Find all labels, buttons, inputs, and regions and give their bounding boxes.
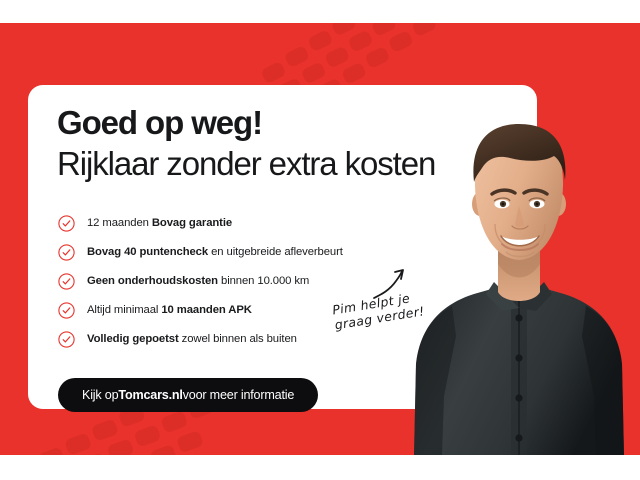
page-subtitle: Rijklaar zonder extra kosten [57, 145, 435, 183]
list-item: Bovag 40 puntencheck en uitgebreide afle… [58, 238, 388, 267]
feature-post: zowel binnen als buiten [179, 333, 297, 345]
list-item-text: Bovag 40 puntencheck en uitgebreide afle… [87, 246, 343, 260]
check-circle-icon [58, 215, 75, 232]
heading-block: Goed op weg! Rijklaar zonder extra koste… [57, 105, 435, 183]
check-circle-icon [58, 273, 75, 290]
feature-bold: Geen onderhoudskosten [87, 275, 218, 287]
feature-pre: Altijd minimaal [87, 304, 161, 316]
list-item-text: Altijd minimaal 10 maanden APK [87, 304, 252, 318]
check-circle-icon [58, 302, 75, 319]
cta-pre: Kijk op [82, 388, 118, 402]
list-item-text: 12 maanden Bovag garantie [87, 217, 232, 231]
list-item: Geen onderhoudskosten binnen 10.000 km [58, 267, 388, 296]
feature-list: 12 maanden Bovag garantie Bovag 40 punte… [58, 209, 388, 354]
cta-button[interactable]: Kijk op Tomcars.nl voor meer informatie [58, 378, 318, 412]
check-circle-icon [58, 331, 75, 348]
banner-stage: Goed op weg! Rijklaar zonder extra koste… [0, 0, 640, 480]
feature-bold: Volledig gepoetst [87, 333, 179, 345]
feature-pre: 12 maanden [87, 217, 152, 229]
page-title: Goed op weg! [57, 105, 435, 142]
cta-brand: Tomcars.nl [118, 388, 182, 402]
list-item-text: Volledig gepoetst zowel binnen als buite… [87, 333, 297, 347]
list-item: 12 maanden Bovag garantie [58, 209, 388, 238]
list-item-text: Geen onderhoudskosten binnen 10.000 km [87, 275, 309, 289]
cta-post: voor meer informatie [183, 388, 294, 402]
feature-bold: 10 maanden APK [161, 304, 251, 316]
feature-bold: Bovag 40 puntencheck [87, 246, 208, 258]
feature-post: binnen 10.000 km [218, 275, 309, 287]
feature-post: en uitgebreide afleverbeurt [208, 246, 343, 258]
check-circle-icon [58, 244, 75, 261]
feature-bold: Bovag garantie [152, 217, 232, 229]
